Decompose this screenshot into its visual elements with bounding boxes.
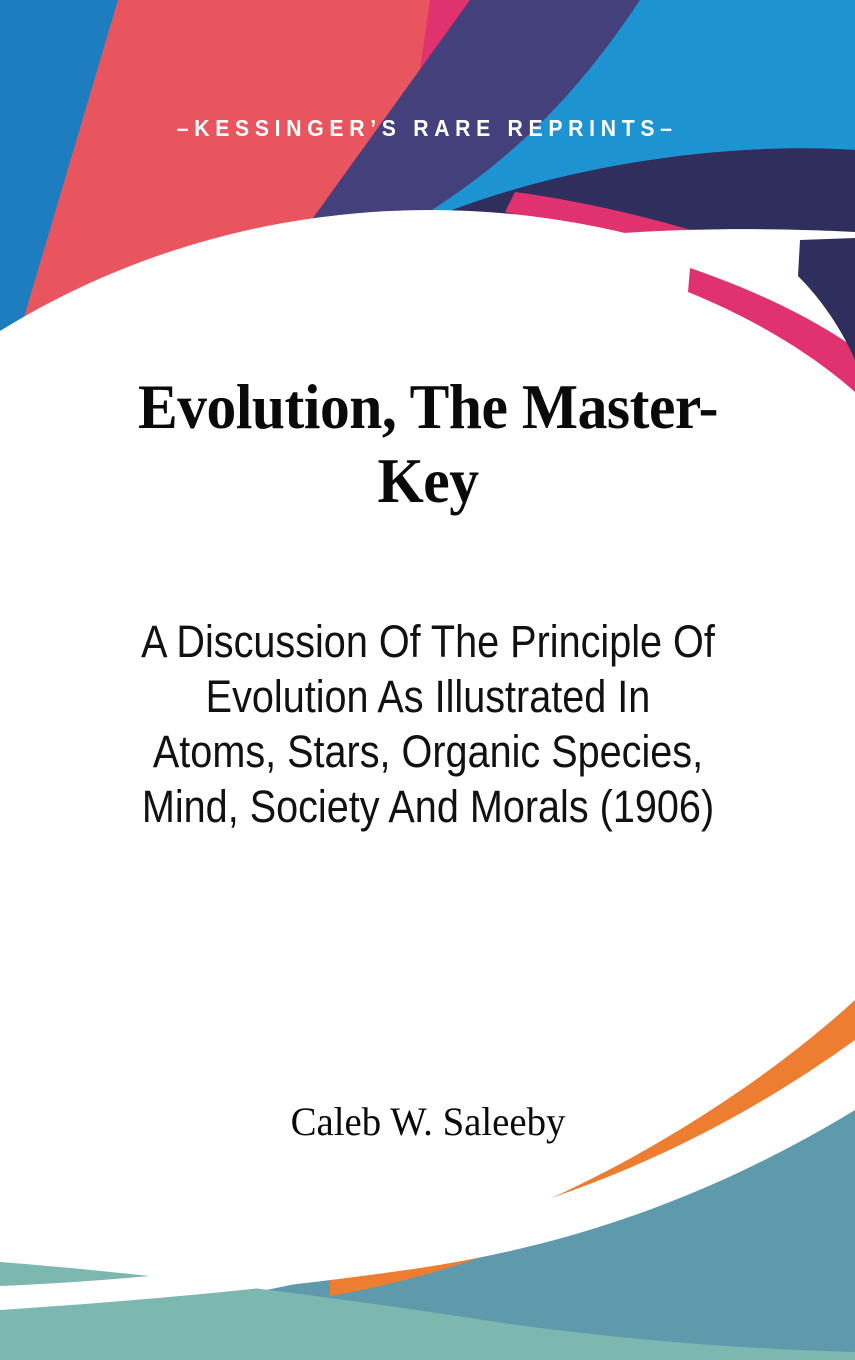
publisher-banner-text: –KESSINGER’S RARE REPRINTS– <box>177 115 678 142</box>
book-author: Caleb W. Saleeby <box>89 1098 768 1145</box>
book-subtitle: A Discussion Of The Principle Of Evoluti… <box>120 615 736 835</box>
book-subtitle-wrap: A Discussion Of The Principle Of Evoluti… <box>78 615 778 835</box>
publisher-banner: –KESSINGER’S RARE REPRINTS– <box>0 108 855 148</box>
book-cover: –KESSINGER’S RARE REPRINTS– Evolution, T… <box>0 0 855 1360</box>
author-block: Caleb W. Saleeby <box>78 1098 778 1145</box>
cover-text-block: Evolution, The Master-Key A Discussion O… <box>78 370 778 835</box>
book-title: Evolution, The Master-Key <box>103 370 754 517</box>
